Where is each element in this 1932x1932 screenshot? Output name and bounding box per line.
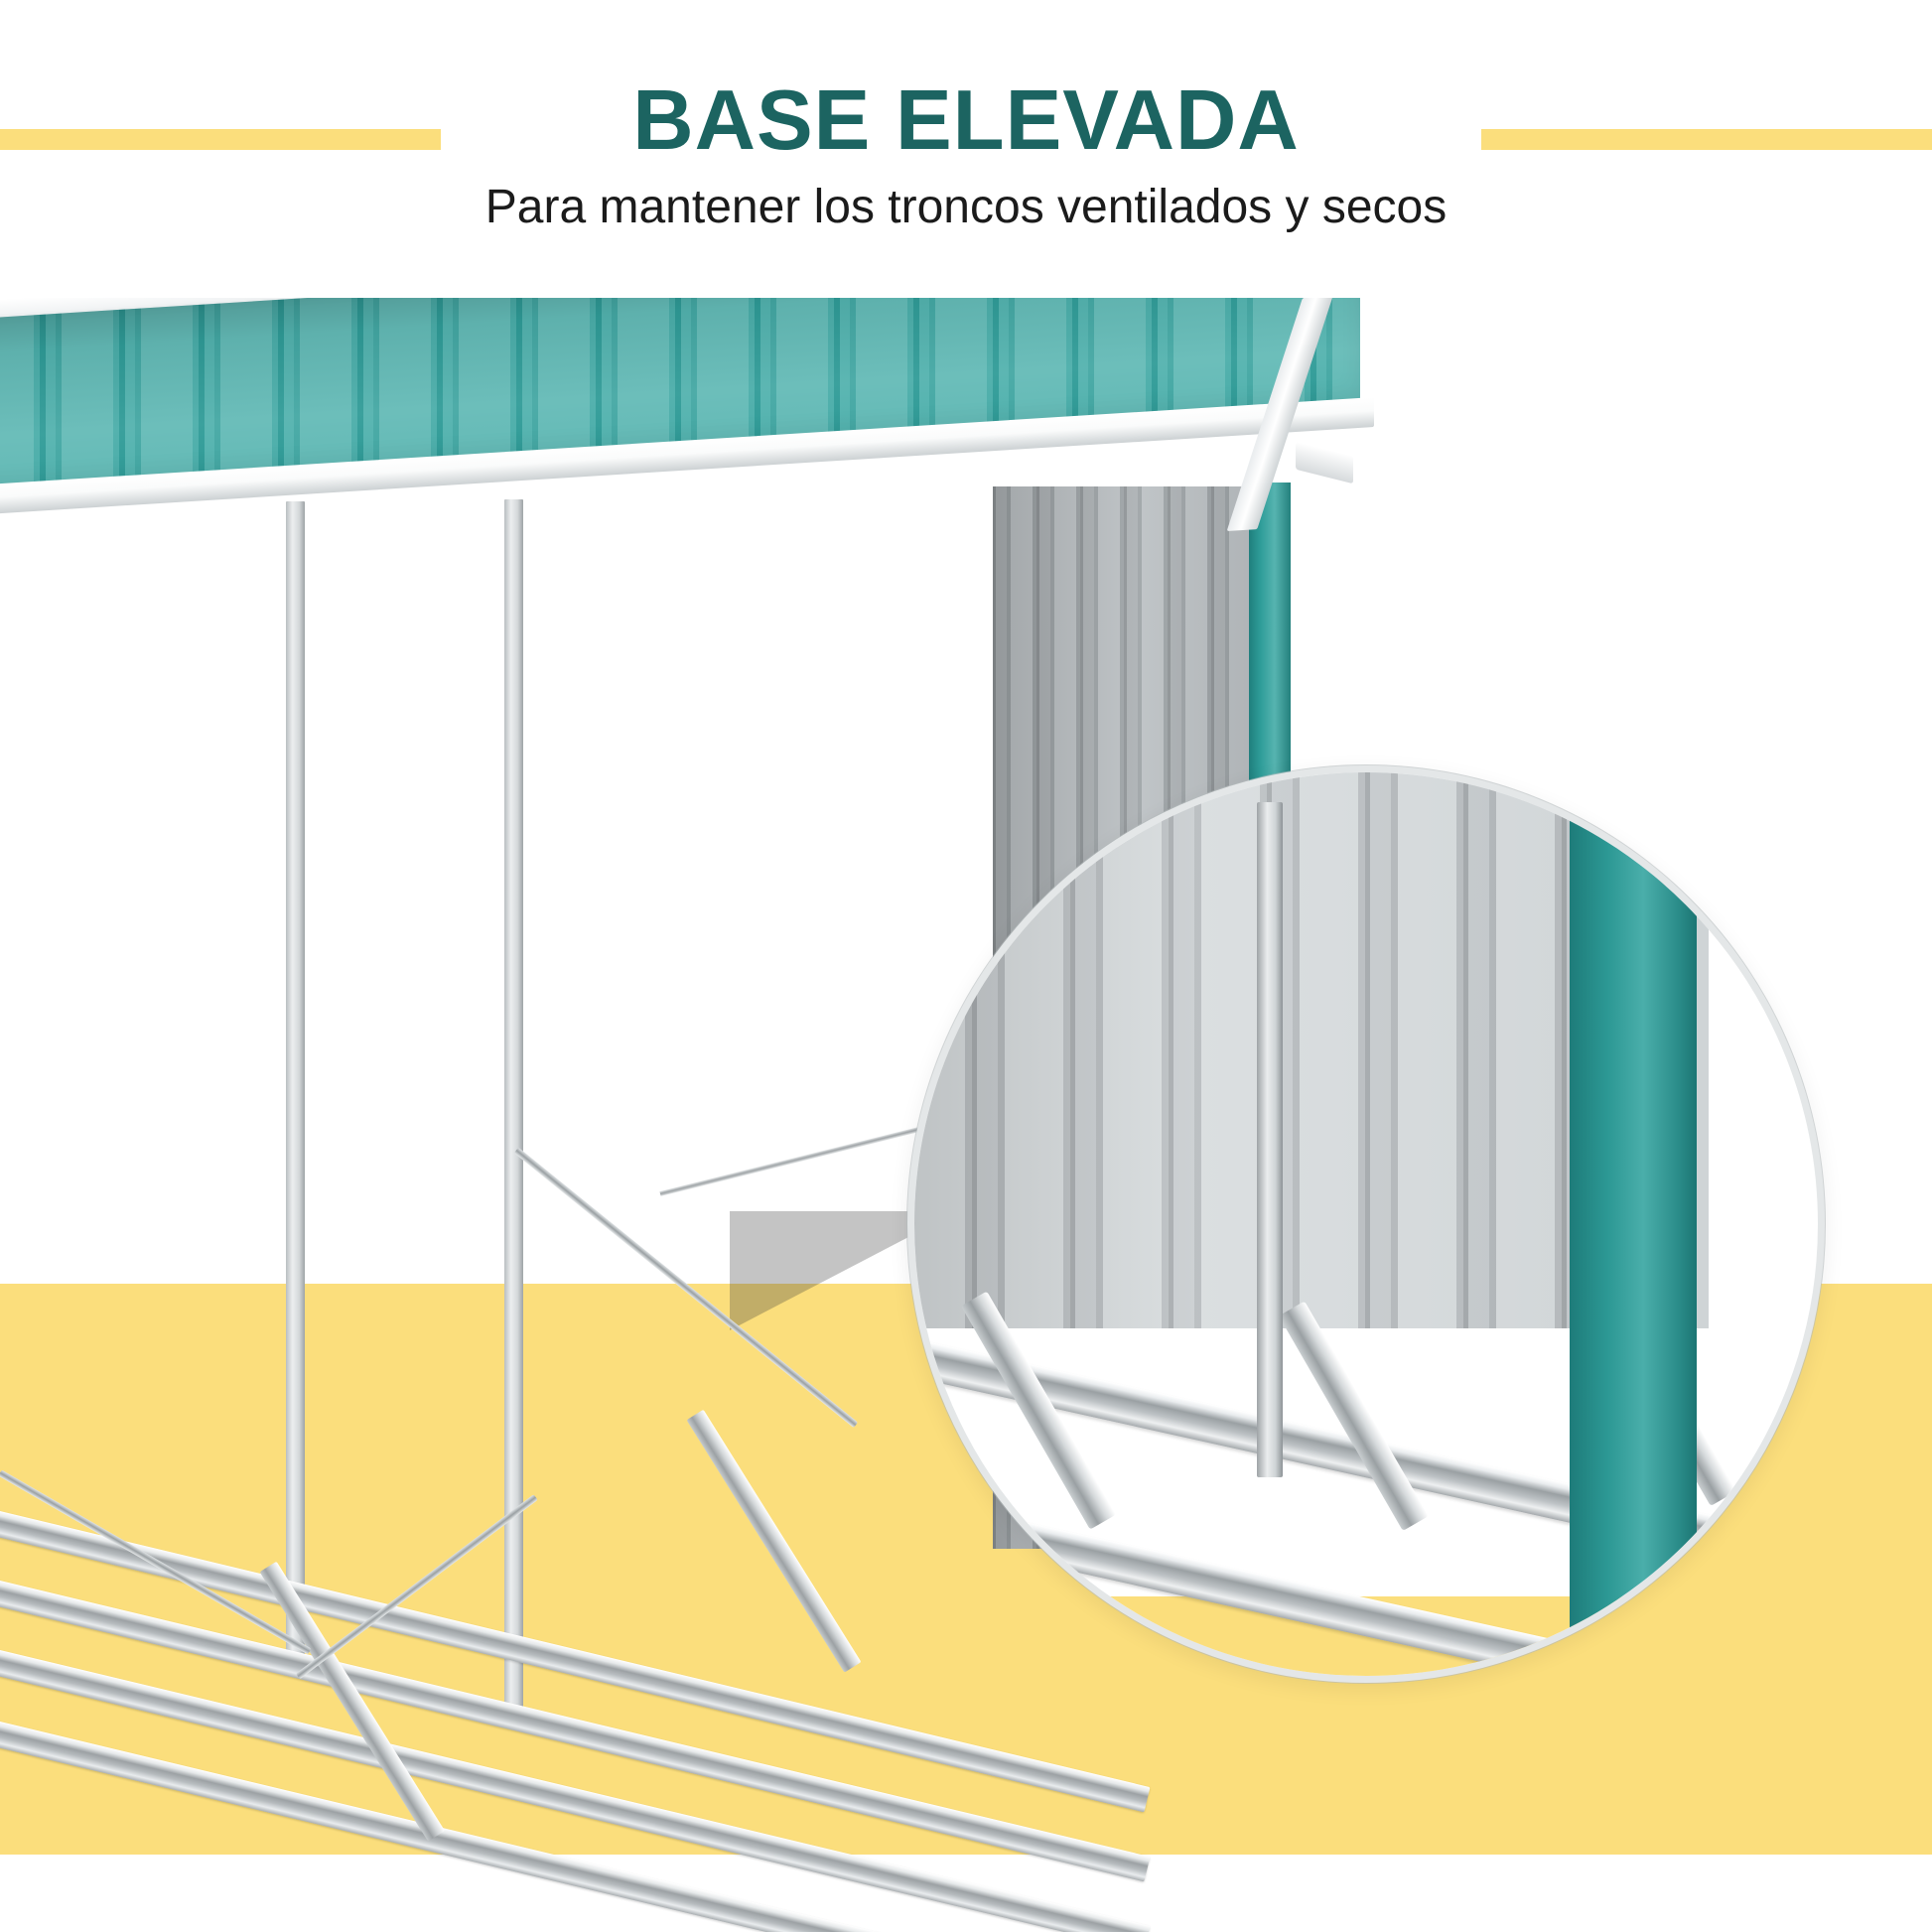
roof-assembly — [0, 298, 1430, 556]
banner-header: BASE ELEVADA Para mantener los troncos v… — [0, 0, 1932, 298]
magnified-post — [1257, 802, 1283, 1477]
front-post-right — [504, 499, 523, 1716]
magnified-cross-member-2 — [1279, 1302, 1429, 1532]
magnifier-circle — [907, 765, 1825, 1683]
magnifier-connector-line — [659, 1119, 949, 1195]
front-post-left — [286, 501, 305, 1673]
feature-subtitle: Para mantener los troncos ventilados y s… — [0, 177, 1932, 238]
product-illustration — [0, 298, 1932, 1932]
magnified-teal-edge — [1570, 765, 1697, 1683]
feature-title: BASE ELEVADA — [0, 73, 1932, 169]
magnifier-content — [914, 772, 1818, 1676]
product-feature-banner: BASE ELEVADA Para mantener los troncos v… — [0, 0, 1932, 1932]
roof-corner-cap — [1296, 442, 1353, 483]
